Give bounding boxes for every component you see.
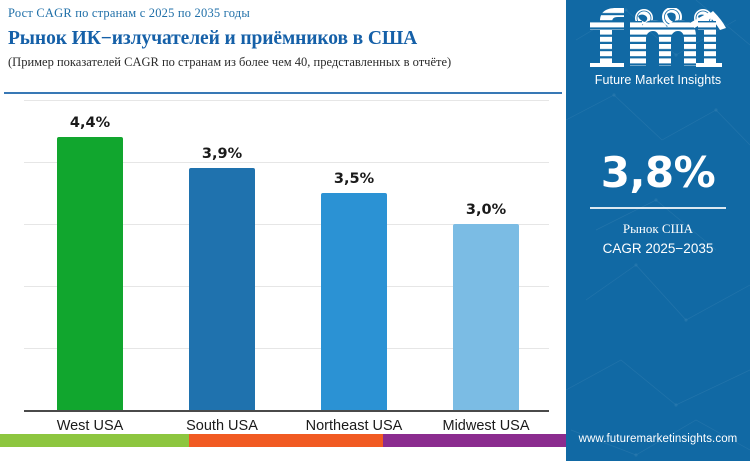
kpi-block: 3,8% Рынок США CAGR 2025−2035 (566, 152, 750, 260)
bar[interactable] (321, 193, 387, 410)
header-divider (4, 92, 562, 94)
infographic-root: Рост CAGR по странам с 2025 по 2035 годы… (0, 0, 750, 461)
category-label: Northeast USA (284, 418, 424, 434)
brand-tagline: Future Market Insights (566, 73, 750, 87)
eyebrow-text: Рост CAGR по странам с 2025 по 2035 годы (8, 6, 560, 21)
bar-value-label: 3,0% (426, 202, 546, 218)
bar-group[interactable]: 3,9% (189, 168, 255, 410)
kpi-caption: Рынок США CAGR 2025−2035 (566, 219, 750, 260)
bar-group[interactable]: 3,5% (321, 193, 387, 410)
main-panel: Рост CAGR по странам с 2025 по 2035 годы… (0, 0, 566, 447)
kpi-caption-line2: CAGR 2025−2035 (566, 239, 750, 260)
category-label: Midwest USA (416, 418, 556, 434)
page-title: Рынок ИК−излучателей и приёмников в США (8, 28, 560, 50)
kpi-divider (590, 207, 726, 209)
kpi-value: 3,8% (566, 152, 750, 194)
bar-chart: 4,4%3,9%3,5%3,0% (0, 100, 566, 415)
bottom-color-strip (0, 434, 566, 447)
category-label: South USA (152, 418, 292, 434)
bar[interactable] (189, 168, 255, 410)
kpi-caption-line1: Рынок США (566, 219, 750, 239)
bar[interactable] (453, 224, 519, 410)
bar-value-label: 3,9% (162, 146, 282, 162)
strip-segment-green (0, 434, 189, 447)
category-label: West USA (20, 418, 160, 434)
bar-group[interactable]: 4,4% (57, 137, 123, 410)
strip-segment-purple (383, 434, 566, 447)
page-subtitle: (Пример показателей CAGR по странам из б… (8, 55, 560, 70)
bar-group[interactable]: 3,0% (453, 224, 519, 410)
strip-segment-orange (189, 434, 383, 447)
chart-bars-layer: 4,4%3,9%3,5%3,0% (0, 100, 566, 412)
bar[interactable] (57, 137, 123, 410)
brand-logo[interactable]: Future Market Insights (566, 8, 750, 87)
fmi-logo-icon (582, 8, 734, 70)
sidebar: Future Market Insights 3,8% Рынок США CA… (566, 0, 750, 461)
bar-value-label: 3,5% (294, 171, 414, 187)
website-url[interactable]: www.futuremarketinsights.com (566, 433, 750, 445)
header-block: Рост CAGR по странам с 2025 по 2035 годы… (8, 6, 560, 70)
bar-value-label: 4,4% (30, 115, 150, 131)
